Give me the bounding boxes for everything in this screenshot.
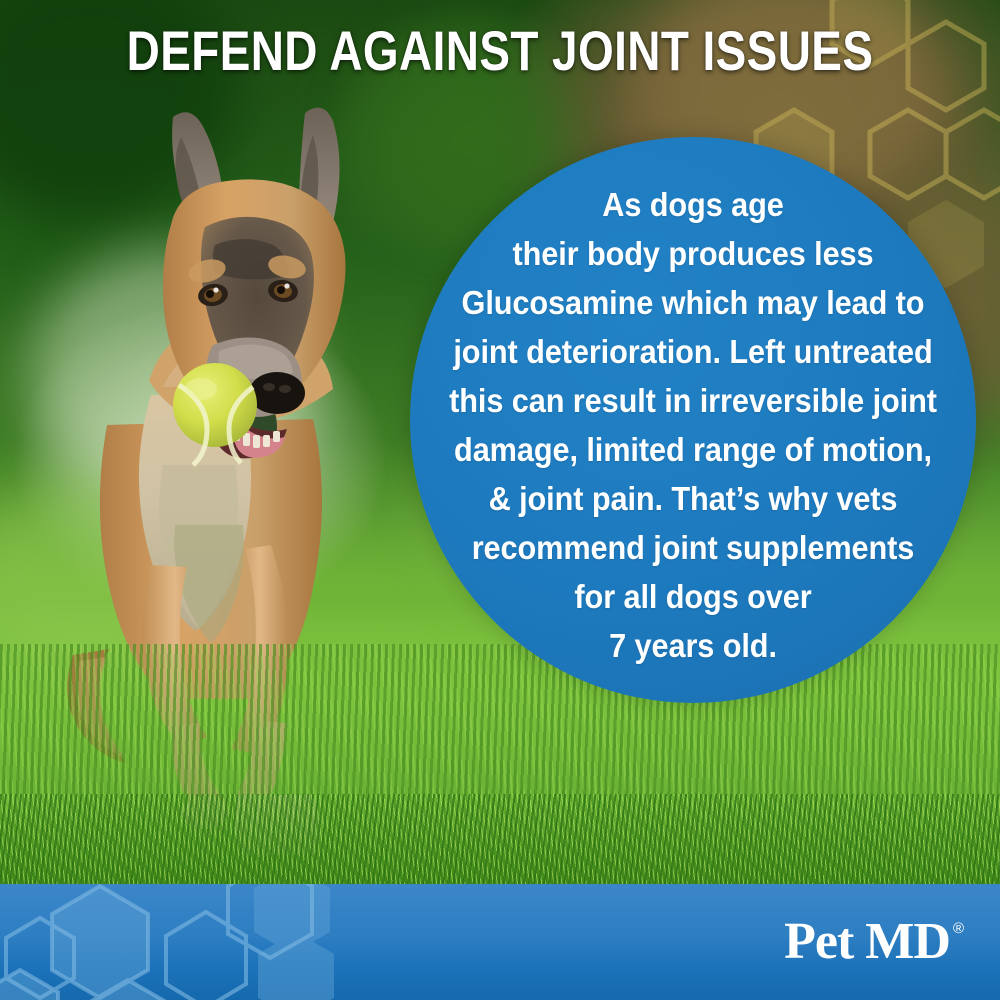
- brand-logo-name: Pet MD: [784, 916, 950, 968]
- callout-text: As dogs age their body produces less Glu…: [430, 180, 956, 670]
- callout-line: this can result in irreversible joint: [430, 376, 956, 425]
- callout-line: for all dogs over: [430, 572, 956, 621]
- registered-trademark-icon: ®: [953, 920, 964, 938]
- callout-line: recommend joint supplements: [430, 523, 956, 572]
- callout-line: As dogs age: [430, 180, 956, 229]
- hexagon-pattern-footer: [0, 884, 420, 1000]
- callout-line: damage, limited range of motion,: [430, 425, 956, 474]
- page-title: DEFEND AGAINST JOINT ISSUES: [90, 20, 910, 82]
- footer-bar: Pet MD ®: [0, 884, 1000, 1000]
- grass-blades: [0, 794, 1000, 884]
- brand-logo: Pet MD ®: [784, 916, 964, 968]
- callout-line: 7 years old.: [430, 621, 956, 670]
- promo-poster: DEFEND AGAINST JOINT ISSUES As dogs age …: [0, 0, 1000, 1000]
- callout-line: their body produces less: [430, 229, 956, 278]
- callout-line: & joint pain. That’s why vets: [430, 474, 956, 523]
- callout-line: joint deterioration. Left untreated: [430, 327, 956, 376]
- callout-line: Glucosamine which may lead to: [430, 278, 956, 327]
